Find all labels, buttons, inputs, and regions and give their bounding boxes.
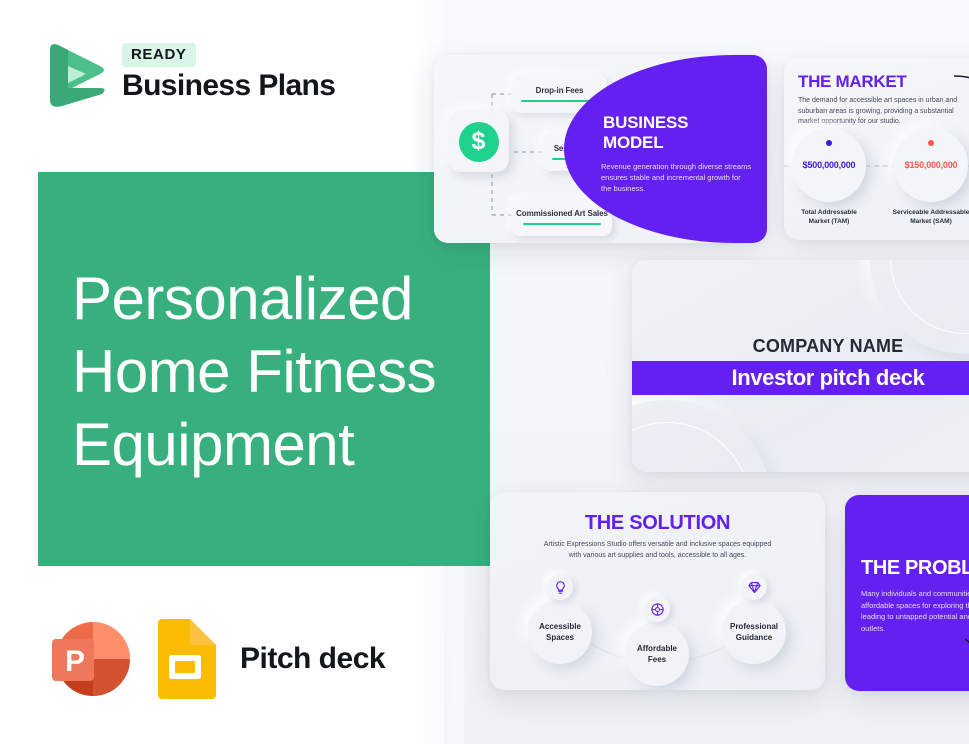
metric-caption: Serviceable Addressable Market (SAM) xyxy=(883,208,969,226)
brand-name: Business Plans xyxy=(122,69,335,103)
lightbulb-icon xyxy=(547,574,573,600)
market-description: The demand for accessible art spaces in … xyxy=(798,96,958,128)
slide-solution[interactable]: THE SOLUTION Artistic Expressions Studio… xyxy=(490,492,825,690)
metric-dot-icon xyxy=(826,140,832,146)
cover-subtitle: Investor pitch deck xyxy=(732,365,925,391)
brand-logo[interactable]: READY Business Plans xyxy=(40,36,335,110)
slide-market[interactable]: THE MARKET The demand for accessible art… xyxy=(784,58,969,240)
dollar-sign-icon: $ xyxy=(448,111,509,172)
formats-row: P Pitch deck xyxy=(48,618,385,700)
solution-pillar-label: Professional Guidance xyxy=(730,621,778,643)
brand-text-block: READY Business Plans xyxy=(122,43,335,103)
target-icon xyxy=(644,596,670,622)
problem-title: THE PROBLEM xyxy=(861,557,969,580)
problem-description: Many individuals and communities lack ac… xyxy=(861,588,969,634)
accent-bar xyxy=(523,223,601,226)
metric-value: $500,000,000 xyxy=(803,160,856,170)
business-model-description: Revenue generation through diverse strea… xyxy=(601,161,753,194)
poster-canvas: Personalized Home Fitness Equipment READ… xyxy=(0,0,969,744)
solution-description: Artistic Expressions Studio offers versa… xyxy=(543,540,773,561)
market-title: THE MARKET xyxy=(798,72,906,92)
revenue-stream-label: Commissioned Art Sales xyxy=(516,209,608,218)
solution-pillar[interactable]: Professional Guidance xyxy=(722,600,786,664)
solution-title: THE SOLUTION xyxy=(490,512,825,535)
ready-badge: READY xyxy=(122,43,196,67)
metric-value: $150,000,000 xyxy=(905,160,958,170)
cover-company-name: COMPANY NAME xyxy=(632,336,969,357)
google-slides-file-icon[interactable] xyxy=(154,619,216,699)
cover-subtitle-band: Investor pitch deck xyxy=(632,361,969,395)
metric-circle-tam[interactable]: $500,000,000 xyxy=(792,128,866,202)
solution-pillar[interactable]: Affordable Fees xyxy=(625,622,689,686)
slide-problem[interactable]: THE PROBLEM Many individuals and communi… xyxy=(845,495,969,691)
curved-arrow-icon xyxy=(952,68,969,122)
play-arrow-logo-icon xyxy=(40,36,108,110)
revenue-stream-label: Drop-in Fees xyxy=(536,86,584,95)
slide-cover[interactable]: COMPANY NAME Investor pitch deck xyxy=(632,260,969,472)
formats-label: Pitch deck xyxy=(240,642,385,676)
solution-pillar[interactable]: Accessible Spaces xyxy=(528,600,592,664)
business-model-title: BUSINESS MODEL xyxy=(603,113,753,153)
metric-dot-icon xyxy=(928,140,934,146)
powerpoint-file-icon[interactable]: P xyxy=(48,618,130,700)
svg-text:P: P xyxy=(65,645,85,678)
problem-curved-arrow-icon xyxy=(965,625,969,675)
metric-caption: Total Addressable Market (TAM) xyxy=(784,208,877,226)
solution-pillar-label: Affordable Fees xyxy=(637,643,677,665)
solution-pillar-label: Accessible Spaces xyxy=(539,621,581,643)
page-title: Personalized Home Fitness Equipment xyxy=(72,262,502,481)
metric-circle-sam[interactable]: $150,000,000 xyxy=(894,128,968,202)
diamond-icon xyxy=(741,574,767,600)
slide-business-model[interactable]: $ Drop-in Fees Session Workshops Commiss… xyxy=(434,55,767,243)
